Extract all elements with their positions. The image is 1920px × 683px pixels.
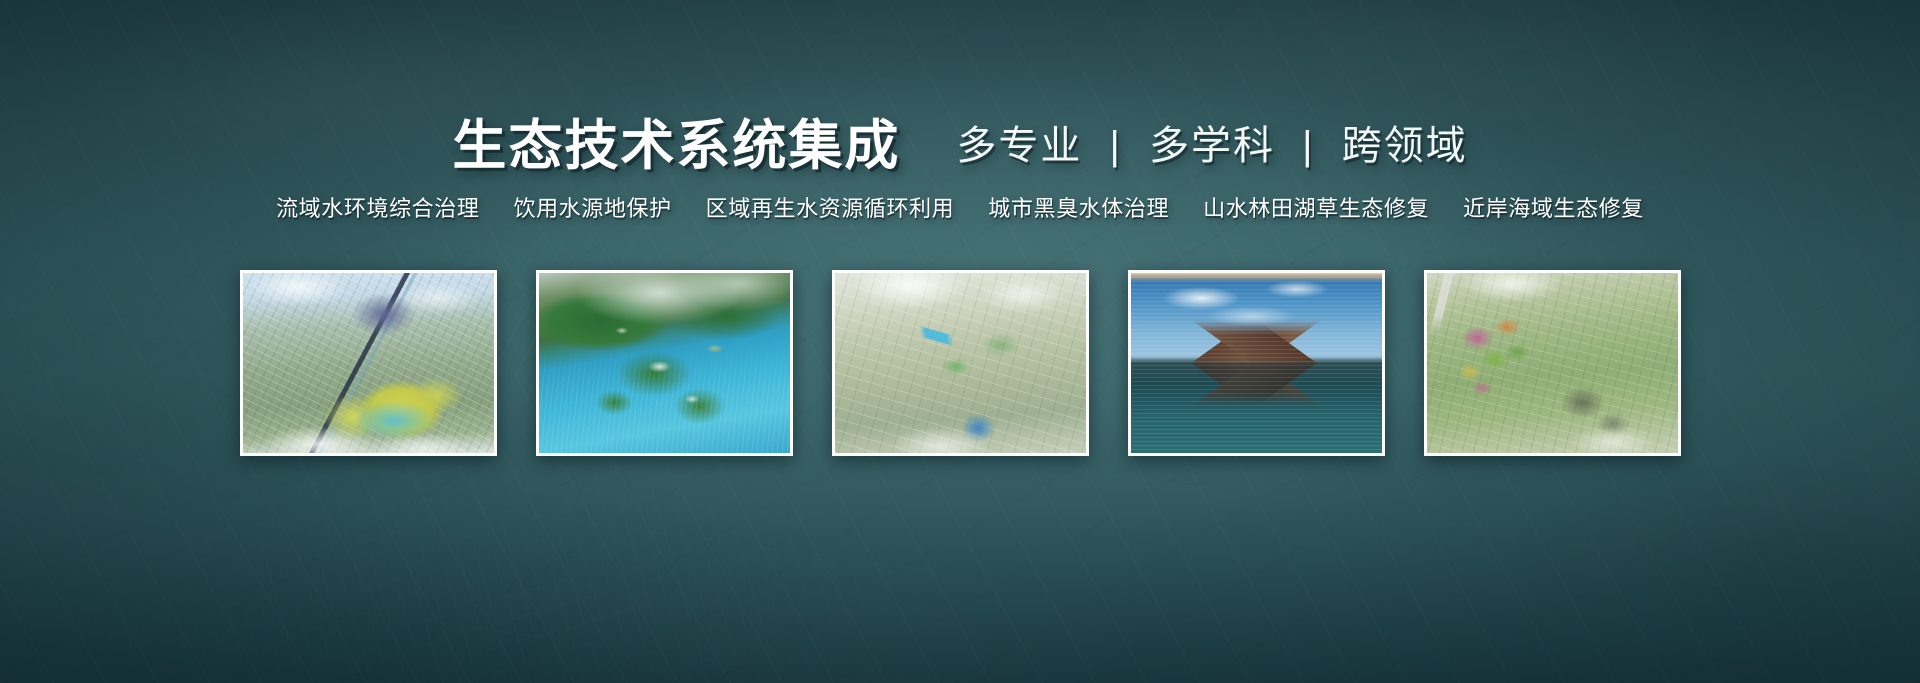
project-thumbnail[interactable] (240, 270, 497, 456)
island-lake-reservoir-image (539, 273, 790, 453)
keyword-item[interactable]: 饮用水源地保护 (513, 191, 671, 223)
project-thumbnail[interactable] (832, 270, 1089, 456)
subtitle-separator-2: | (1288, 124, 1328, 168)
banner-subtitle: 多专业 | 多学科 | 跨领域 (956, 126, 1467, 166)
banner-title: 生态技术系统集成 (452, 119, 900, 173)
farmland-mosaic-plan-image (1427, 273, 1678, 453)
project-thumbnail[interactable] (1424, 270, 1681, 456)
watershed-aerial-plan-image (243, 273, 494, 453)
banner-content: 生态技术系统集成 多专业 | 多学科 | 跨领域 流域水环境综合治理 饮用水源地… (0, 0, 1920, 683)
subtitle-part-1: 多专业 (956, 124, 1082, 168)
subtitle-separator-1: | (1095, 124, 1135, 168)
keyword-list: 流域水环境综合治理 饮用水源地保护 区域再生水资源循环利用 城市黑臭水体治理 山… (0, 190, 1920, 224)
river-corridor-plan-image (835, 273, 1086, 453)
keyword-item[interactable]: 流域水环境综合治理 (276, 191, 479, 223)
project-thumbnail-strip (0, 270, 1920, 456)
keyword-item[interactable]: 城市黑臭水体治理 (988, 191, 1169, 223)
keyword-item[interactable]: 区域再生水资源循环利用 (706, 191, 955, 223)
project-thumbnail[interactable] (536, 270, 793, 456)
keyword-item[interactable]: 近岸海域生态修复 (1463, 191, 1644, 223)
headline-row: 生态技术系统集成 多专业 | 多学科 | 跨领域 (0, 108, 1920, 184)
mountain-lake-reflection-image (1131, 273, 1382, 453)
project-thumbnail[interactable] (1128, 270, 1385, 456)
subtitle-part-3: 跨领域 (1342, 124, 1468, 168)
subtitle-part-2: 多学科 (1149, 124, 1275, 168)
ecology-technology-banner: 生态技术系统集成 多专业 | 多学科 | 跨领域 流域水环境综合治理 饮用水源地… (0, 0, 1920, 683)
keyword-item[interactable]: 山水林田湖草生态修复 (1203, 191, 1429, 223)
